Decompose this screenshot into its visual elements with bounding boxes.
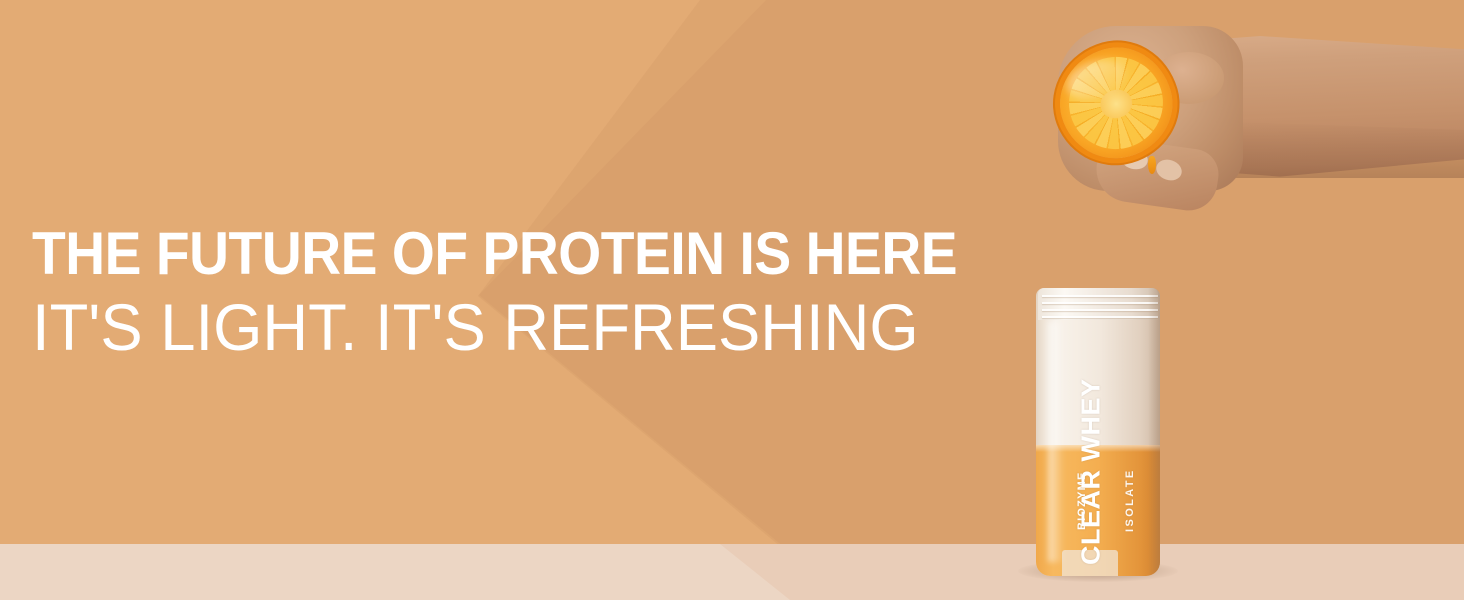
bottle-highlight [1048, 322, 1064, 562]
bottle-thread [1042, 309, 1158, 311]
promo-banner: THE FUTURE OF PROTEIN IS HERE IT'S LIGHT… [0, 0, 1464, 600]
headline-line-2: IT'S LIGHT. IT'S REFRESHING [32, 292, 992, 362]
bottle-base-panel [1062, 550, 1118, 576]
bottle-thread [1042, 316, 1158, 318]
headline-line-1: THE FUTURE OF PROTEIN IS HERE [32, 222, 952, 286]
product-bottle: BIOZYME CLEAR WHEY ISOLATE [1036, 288, 1160, 588]
bottle-body: BIOZYME CLEAR WHEY ISOLATE [1036, 288, 1160, 576]
bottle-edge-shading [1148, 288, 1160, 576]
headline-block: THE FUTURE OF PROTEIN IS HERE IT'S LIGHT… [32, 222, 1032, 362]
bottle-thread [1042, 302, 1158, 304]
bottle-thread [1042, 295, 1158, 297]
bottle-neck [1038, 288, 1158, 320]
juice-drip [1148, 156, 1156, 174]
hand-squeezing-orange-image [1030, 8, 1464, 208]
